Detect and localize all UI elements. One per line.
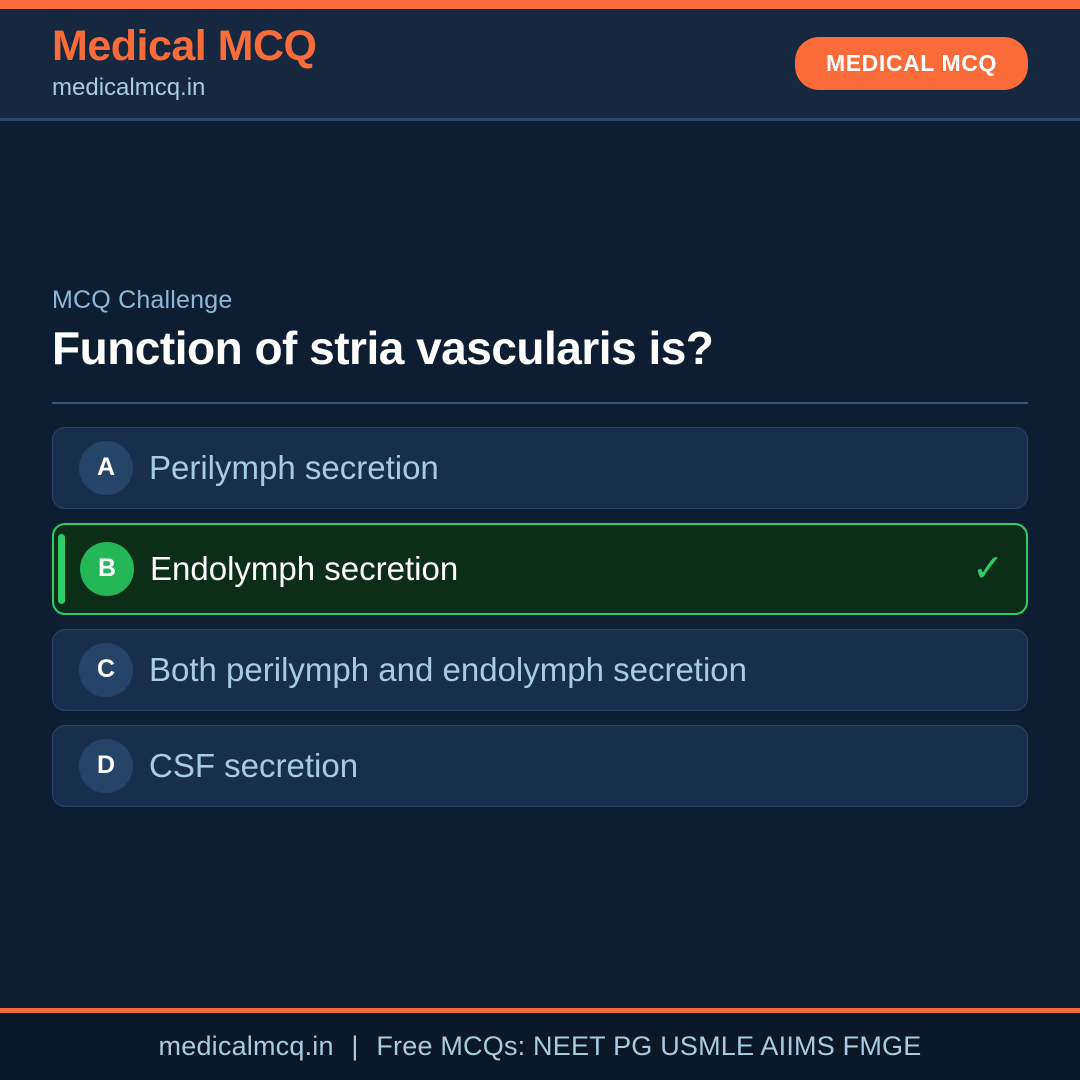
options-list: A Perilymph secretion B Endolymph secret… bbox=[52, 427, 1028, 807]
option-c-letter-badge: C bbox=[79, 643, 133, 697]
option-a-letter-badge: A bbox=[79, 441, 133, 495]
option-b[interactable]: B Endolymph secretion ✓ bbox=[52, 523, 1028, 615]
option-d[interactable]: D CSF secretion bbox=[52, 725, 1028, 807]
main-content: MCQ Challenge Function of stria vascular… bbox=[0, 121, 1080, 1008]
check-icon: ✓ bbox=[972, 550, 1004, 588]
option-a-label: Perilymph secretion bbox=[149, 448, 1005, 488]
footer-exams: Free MCQs: NEET PG USMLE AIIMS FMGE bbox=[376, 1031, 921, 1061]
brand-subtitle: medicalmcq.in bbox=[52, 72, 317, 103]
option-a[interactable]: A Perilymph secretion bbox=[52, 427, 1028, 509]
header-badge: MEDICAL MCQ bbox=[795, 37, 1028, 90]
correct-accent-bar bbox=[58, 534, 65, 604]
option-c[interactable]: C Both perilymph and endolymph secretion bbox=[52, 629, 1028, 711]
footer-separator: | bbox=[341, 1031, 368, 1061]
question-divider bbox=[52, 402, 1028, 404]
page-footer: medicalmcq.in | Free MCQs: NEET PG USMLE… bbox=[0, 1008, 1080, 1080]
question-text: Function of stria vascularis is? bbox=[52, 321, 1028, 375]
brand-block: Medical MCQ medicalmcq.in bbox=[52, 24, 317, 103]
top-accent-bar bbox=[0, 0, 1080, 9]
brand-title: Medical MCQ bbox=[52, 24, 317, 69]
option-d-label: CSF secretion bbox=[149, 746, 1005, 786]
option-b-letter-badge: B bbox=[80, 542, 134, 596]
footer-site: medicalmcq.in bbox=[159, 1031, 334, 1061]
footer-text: medicalmcq.in | Free MCQs: NEET PG USMLE… bbox=[159, 1031, 922, 1062]
page-header: Medical MCQ medicalmcq.in MEDICAL MCQ bbox=[0, 9, 1080, 121]
option-d-letter-badge: D bbox=[79, 739, 133, 793]
mcq-card: Medical MCQ medicalmcq.in MEDICAL MCQ MC… bbox=[0, 0, 1080, 1080]
option-c-label: Both perilymph and endolymph secretion bbox=[149, 650, 1005, 690]
kicker-label: MCQ Challenge bbox=[52, 286, 1028, 315]
option-b-label: Endolymph secretion bbox=[150, 549, 958, 589]
